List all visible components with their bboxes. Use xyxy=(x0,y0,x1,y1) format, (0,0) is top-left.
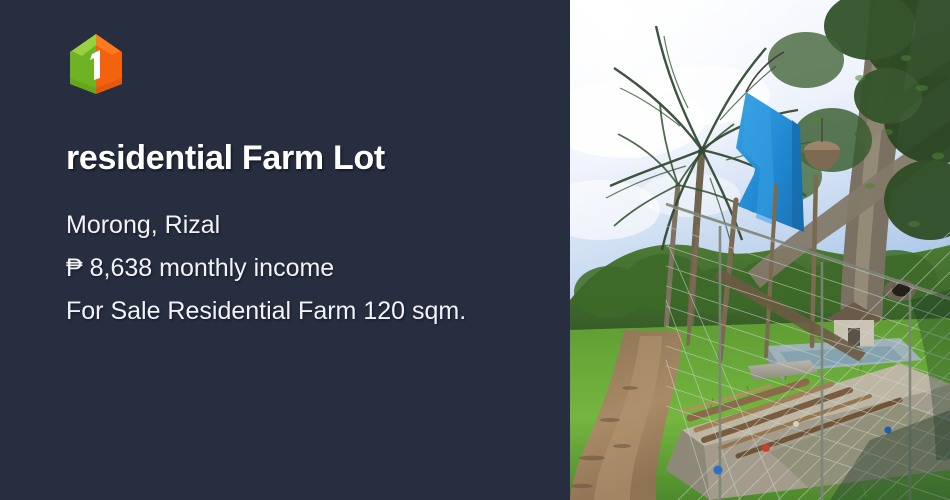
property-listing-card: residential Farm Lot Morong, Rizal ₱ 8,6… xyxy=(0,0,950,500)
listing-info-panel: residential Farm Lot Morong, Rizal ₱ 8,6… xyxy=(0,0,570,500)
listing-description: For Sale Residential Farm 120 sqm. xyxy=(66,290,496,333)
listing-text-block: residential Farm Lot Morong, Rizal ₱ 8,6… xyxy=(66,138,536,333)
listing-details: Morong, Rizal ₱ 8,638 monthly income For… xyxy=(66,204,496,333)
listing-location: Morong, Rizal xyxy=(66,204,496,247)
property-photo xyxy=(570,0,950,500)
house-one-logo-icon[interactable] xyxy=(64,32,128,104)
page-title: residential Farm Lot xyxy=(66,138,536,178)
listing-income: ₱ 8,638 monthly income xyxy=(66,247,496,290)
